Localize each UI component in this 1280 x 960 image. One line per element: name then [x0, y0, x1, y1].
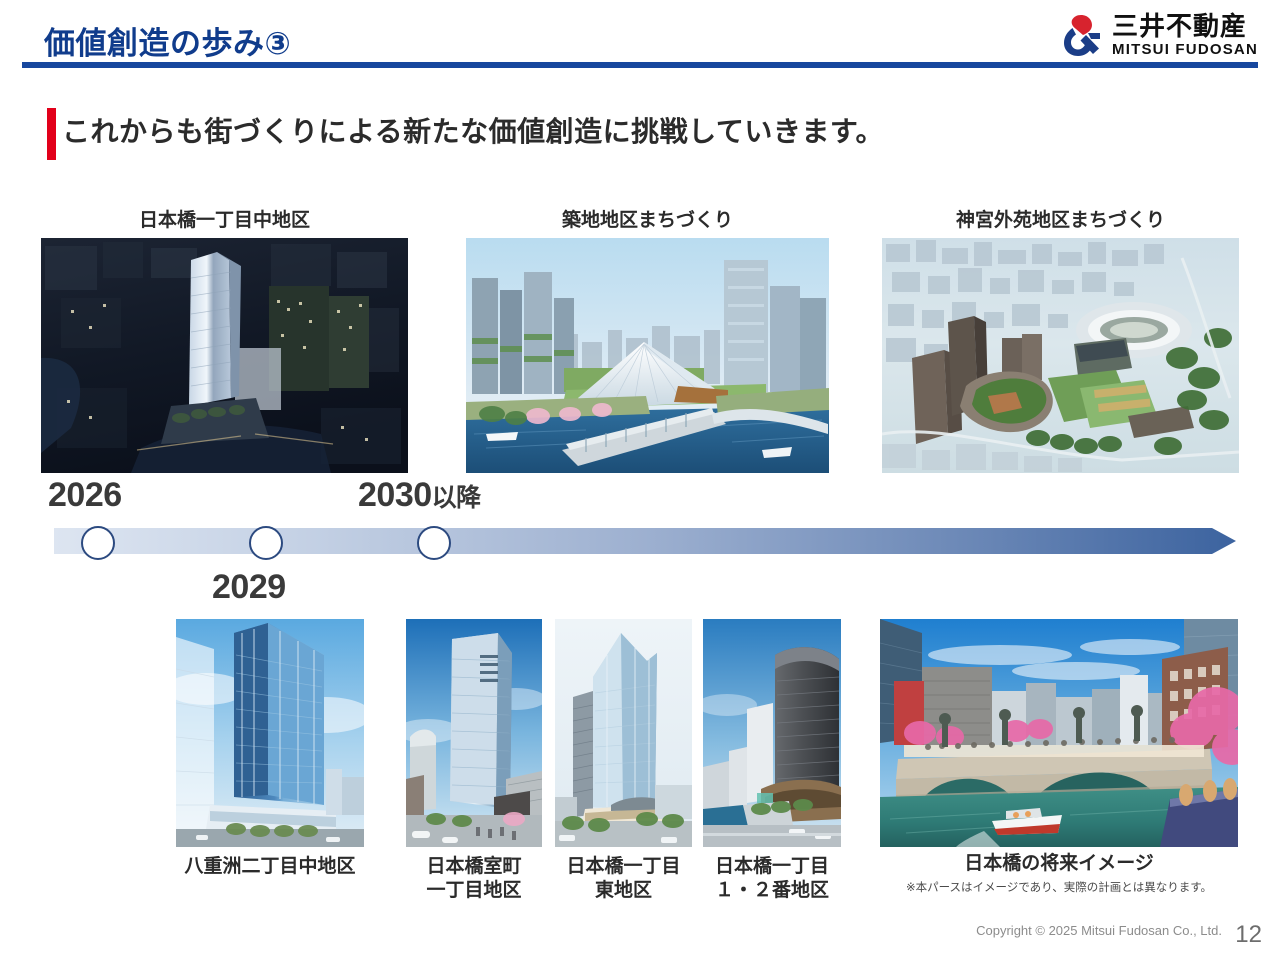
top-project-row: 日本橋一丁目中地区	[0, 205, 1280, 480]
bottom-project-caption: 日本橋一丁目 １・２番地区	[715, 855, 829, 904]
timeline-year-2026: 2026	[48, 476, 122, 515]
bottom-project-4: 日本橋の将来イメージ ※本パースはイメージであり、実際の計画とは異なります。	[880, 619, 1238, 847]
nihonbashi-muromachi-1chome-tower-render	[406, 619, 542, 847]
timeline-milestone-dot-2026	[81, 526, 115, 560]
title-underline-rule	[22, 62, 1258, 68]
mitsui-fudosan-logo: 三井不動産 MITSUI FUDOSAN	[1058, 10, 1258, 60]
logo-japanese-name: 三井不動産	[1112, 13, 1247, 39]
bottom-project-row: 八重洲二丁目中地区	[0, 615, 1280, 925]
bottom-project-caption: 日本橋の将来イメージ	[964, 852, 1154, 876]
tsukiji-district-waterfront-render	[466, 238, 829, 473]
top-project-caption: 築地地区まちづくり	[466, 205, 829, 232]
bottom-project-1: 日本橋室町 一丁目地区	[406, 619, 542, 847]
bottom-project-2: 日本橋一丁目 東地区	[555, 619, 692, 847]
bottom-project-caption: 日本橋一丁目 東地区	[566, 855, 680, 904]
logo-english-name: MITSUI FUDOSAN	[1112, 42, 1258, 57]
logo-wordmark: 三井不動産 MITSUI FUDOSAN	[1112, 13, 1258, 57]
mitsui-ampersand-mark-icon	[1058, 12, 1104, 58]
timeline-milestone-dot-2030	[417, 526, 451, 560]
timeline-year-2029: 2029	[212, 568, 286, 607]
bottom-project-caption: 八重洲二丁目中地区	[184, 855, 355, 879]
timeline-year-2030-onward: 2030以降	[358, 476, 481, 515]
lead-accent-bar	[47, 108, 56, 160]
timeline-arrow	[54, 528, 1236, 554]
nihonbashi-1chome-1-2ban-tower-render	[703, 619, 841, 847]
bottom-project-caption: 日本橋室町 一丁目地区	[426, 855, 521, 904]
bottom-project-0: 八重洲二丁目中地区	[176, 619, 364, 847]
yaesu-2chome-naka-tower-render	[176, 619, 364, 847]
page-number: 12	[1235, 921, 1262, 949]
bottom-project-disclaimer: ※本パースはイメージであり、実際の計画とは異なります。	[906, 879, 1212, 895]
nihonbashi-1chome-east-tower-render	[555, 619, 692, 847]
jingu-gaien-district-aerial-render	[882, 238, 1239, 473]
timeline-milestone-dot-2029	[249, 526, 283, 560]
top-project-caption: 神宮外苑地区まちづくり	[882, 205, 1239, 232]
lead-statement: これからも街づくりによる新たな価値創造に挑戦していきます。	[62, 110, 884, 150]
bottom-project-3: 日本橋一丁目 １・２番地区	[703, 619, 841, 847]
nihonbashi-future-bridge-render	[880, 619, 1238, 847]
top-project-caption: 日本橋一丁目中地区	[41, 205, 408, 232]
nihonbashi-1chome-naka-aerial-night-render	[41, 238, 408, 473]
copyright-text: Copyright © 2025 Mitsui Fudosan Co., Ltd…	[976, 923, 1222, 938]
page-title: 価値創造の歩み③	[44, 18, 291, 63]
slide-root: 価値創造の歩み③ 三井不動産 MITSUI FUDOSAN これからも街づくりに…	[0, 0, 1280, 960]
project-timeline: 2026 2029 2030以降	[0, 470, 1280, 620]
